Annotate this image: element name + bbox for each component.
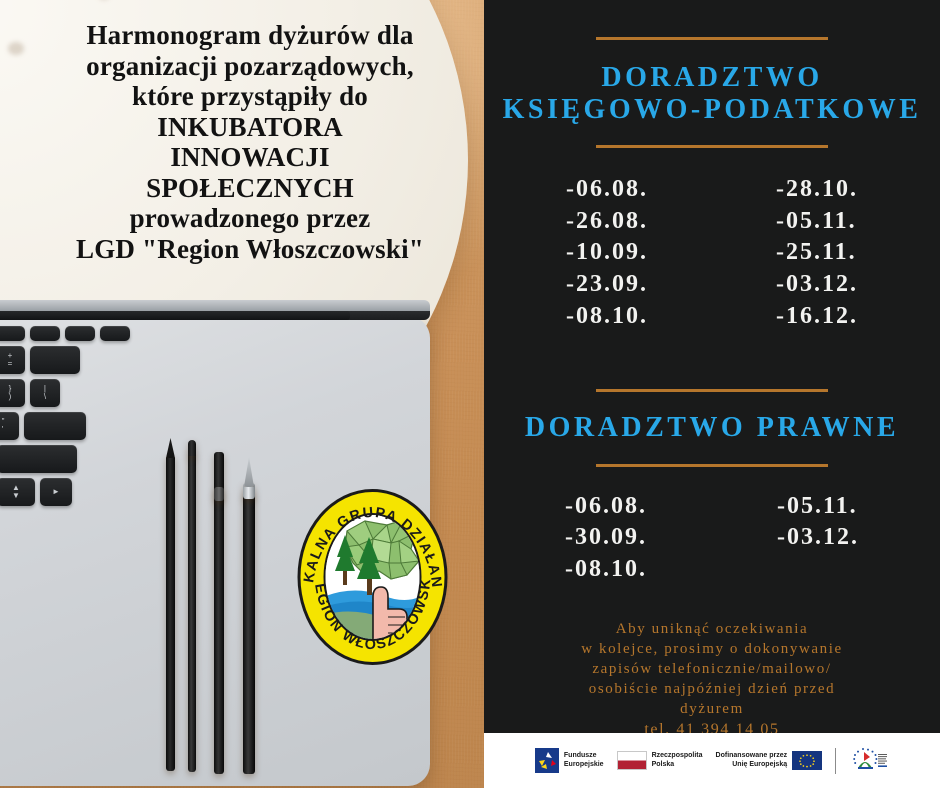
pencil	[166, 455, 175, 771]
laptop-key	[100, 326, 130, 341]
dofinansowane-line-1: Dofinansowane przez	[716, 752, 788, 761]
date-item: -26.08.	[566, 206, 648, 238]
laptop-key: ▲▼	[0, 478, 35, 506]
headline-line-6: SPOŁECZNYCH	[24, 173, 476, 204]
date-column-left: -06.08. -30.09. -08.10.	[565, 491, 647, 586]
laptop-key: |\	[30, 379, 60, 407]
section-title: DORADZTWO KSIĘGOWO-PODATKOWE	[484, 62, 940, 127]
date-column-right: -28.10. -05.11. -25.11. -03.12. -16.12.	[776, 174, 858, 332]
date-item: -23.09.	[566, 269, 648, 301]
poster: −_ += {( }) |\ :; "' ?/ ◄ ▲▼ ►	[0, 0, 940, 788]
laptop-hinge	[0, 311, 350, 320]
rzeczpospolita-label: Rzeczpospolita Polska	[652, 752, 703, 770]
laptop-key	[30, 326, 60, 341]
section-title-line-2: KSIĘGOWO-PODATKOWE	[484, 94, 940, 126]
marble-speckle	[8, 42, 24, 55]
schedule-panel: DORADZTWO KSIĘGOWO-PODATKOWE -06.08. -26…	[484, 0, 940, 733]
date-item: -05.11.	[776, 206, 858, 238]
laptop-key: ►	[40, 478, 72, 506]
fundusze-europejskie-logo: Fundusze Europejskie	[535, 748, 604, 773]
laptop-key: })	[0, 379, 25, 407]
fundusze-europejskie-label: Fundusze Europejskie	[564, 752, 604, 770]
laptop-key	[24, 412, 86, 440]
photo-panel: −_ += {( }) |\ :; "' ?/ ◄ ▲▼ ►	[0, 0, 484, 788]
date-item: -03.12.	[777, 522, 859, 554]
section-title-line-1: DORADZTWO	[484, 62, 940, 94]
section-ksiegowo-podatkowe: DORADZTWO KSIĘGOWO-PODATKOWE -06.08. -26…	[484, 0, 940, 332]
date-item: -03.12.	[776, 269, 858, 301]
section-rule-top	[596, 389, 828, 392]
keyboard-row	[0, 326, 130, 341]
keyboard-row: {( }) |\	[0, 379, 60, 407]
date-item: -10.09.	[566, 237, 648, 269]
headline-line-4: INKUBATORA	[24, 112, 476, 143]
headline-line-2: organizacji pozarządowych,	[24, 51, 476, 82]
contact-line-1: Aby uniknąć oczekiwania	[484, 620, 940, 640]
pen-thin-cap	[188, 440, 196, 456]
date-item: -16.12.	[776, 301, 858, 333]
dofinansowane-line-2: Unię Europejską	[716, 761, 788, 770]
contact-line-4: osobiście najpóźniej dzień przed	[484, 680, 940, 700]
laptop-key	[65, 326, 95, 341]
poster-headline: Harmonogram dyżurów dla organizacji poza…	[24, 20, 476, 264]
date-item: -28.10.	[776, 174, 858, 206]
fundusze-line-1: Fundusze	[564, 752, 604, 761]
fountain-pen	[243, 492, 255, 774]
lgd-logo: LOKALNA GRUPA DZIAŁANIA REGION WŁOSZCZOW…	[295, 487, 450, 667]
date-item: -08.10.	[566, 301, 648, 333]
headline-line-3: które przystąpiły do	[24, 81, 476, 112]
rzeczpospolita-line-2: Polska	[652, 761, 703, 770]
rzeczpospolita-line-1: Rzeczpospolita	[652, 752, 703, 761]
polish-flag-icon	[617, 751, 647, 770]
fundusze-line-2: Europejskie	[564, 761, 604, 770]
swietokrzyskie-region-icon	[849, 746, 889, 776]
section-title: DORADZTWO PRAWNE	[484, 412, 940, 444]
keyboard-row: :; "'	[0, 412, 86, 440]
date-item: -05.11.	[777, 491, 859, 523]
eu-flag-icon	[792, 751, 822, 770]
fundusze-europejskie-icon	[535, 748, 559, 773]
date-list: -06.08. -26.08. -10.09. -23.09. -08.10. …	[484, 174, 940, 332]
date-item: -08.10.	[565, 554, 647, 586]
date-item: -25.11.	[776, 237, 858, 269]
keyboard-row: ◄ ▲▼ ►	[0, 478, 72, 506]
headline-line-1: Harmonogram dyżurów dla	[24, 20, 476, 51]
pen-thin	[188, 452, 196, 772]
date-column-left: -06.08. -26.08. -10.09. -23.09. -08.10.	[566, 174, 648, 332]
laptop-key: "'	[0, 412, 19, 440]
contact-line-5: dyżurem	[484, 700, 940, 720]
date-item: -06.08.	[565, 491, 647, 523]
keyboard-row: −_ +=	[0, 346, 80, 374]
date-item: -06.08.	[566, 174, 648, 206]
marker-band	[214, 487, 224, 501]
laptop-key	[0, 326, 25, 341]
date-column-right: -05.11. -03.12.	[777, 491, 859, 586]
section-title-line-1: DORADZTWO PRAWNE	[484, 412, 940, 444]
keyboard-row: ?/	[0, 445, 77, 473]
headline-line-5: INNOWACJI	[24, 142, 476, 173]
contact-line-2: w kolejce, prosimy o dokonywanie	[484, 640, 940, 660]
rzeczpospolita-polska-logo: Rzeczpospolita Polska	[617, 751, 703, 770]
headline-line-8: LGD "Region Włoszczowski"	[24, 234, 476, 265]
section-rule-bottom	[596, 145, 828, 148]
contact-line-3: zapisów telefonicznie/mailowo/	[484, 660, 940, 680]
laptop-key: +=	[0, 346, 25, 374]
footer-divider	[835, 748, 836, 774]
section-rule-top	[596, 37, 828, 40]
dofinansowane-label: Dofinansowane przez Unię Europejską	[716, 752, 788, 770]
section-rule-bottom	[596, 464, 828, 467]
laptop-key	[0, 445, 77, 473]
region-logo	[849, 746, 889, 776]
section-prawne: DORADZTWO PRAWNE -06.08. -30.09. -08.10.…	[484, 332, 940, 585]
date-list: -06.08. -30.09. -08.10. -05.11. -03.12.	[484, 491, 940, 586]
headline-line-7: prowadzonego przez	[24, 203, 476, 234]
date-item: -30.09.	[565, 522, 647, 554]
unia-europejska-logo: Dofinansowane przez Unię Europejską	[716, 751, 823, 770]
eu-funding-bar: Fundusze Europejskie Rzeczpospolita Pols…	[484, 733, 940, 788]
laptop-key	[30, 346, 80, 374]
